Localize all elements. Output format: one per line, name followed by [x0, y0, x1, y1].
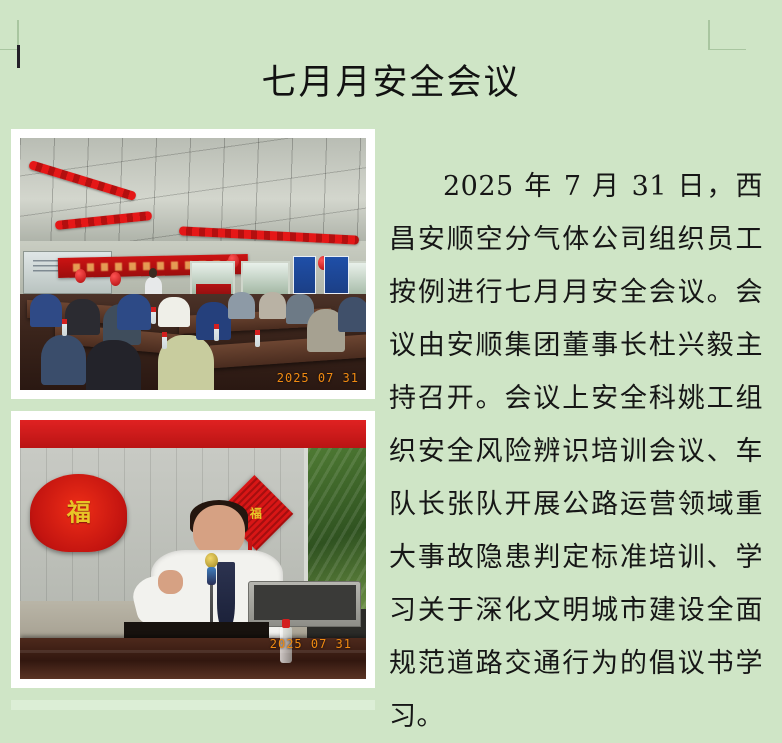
water-bottle: [151, 307, 156, 324]
speaker-necktie: [217, 562, 234, 629]
laptop-computer: [248, 581, 361, 627]
photo-timestamp: 2025 07 31: [270, 637, 352, 651]
wall-poster: [324, 256, 348, 293]
speaker-hand: [158, 570, 182, 593]
attendee: [228, 292, 256, 320]
speaker-podium-photo[interactable]: 2025 07 31: [20, 420, 366, 679]
attendee: [338, 297, 366, 332]
page-title: 七月月安全会议: [0, 61, 782, 105]
attendee: [86, 340, 141, 390]
attendee: [259, 292, 287, 320]
photo-frame-conference-room[interactable]: 2025 07 31: [11, 129, 375, 399]
wall-poster: [293, 256, 316, 293]
water-bottle: [62, 319, 67, 336]
margin-corner-top-left-icon: [0, 20, 32, 50]
attendee: [41, 335, 86, 385]
conference-room-photo[interactable]: 2025 07 31: [20, 138, 366, 390]
attendee: [158, 297, 189, 327]
water-bottle: [162, 332, 167, 349]
photo-column: 2025 07 31: [11, 129, 375, 710]
attendee: [30, 294, 61, 327]
photo-frame-speaker[interactable]: 2025 07 31: [11, 411, 375, 688]
water-bottle: [214, 324, 219, 341]
attendee: [65, 299, 100, 334]
red-wall-band: [20, 420, 366, 451]
document-page: 七月月安全会议: [0, 0, 782, 700]
body-paragraph: 2025 年 7 月 31 日，西昌安顺空分气体公司组织员工按例进行七月月安全会…: [389, 160, 763, 743]
water-bottle: [255, 330, 260, 347]
attendee: [117, 294, 152, 329]
lantern-icon: [110, 272, 121, 286]
photo-timestamp: 2025 07 31: [277, 371, 359, 385]
margin-corner-top-right-icon: [708, 20, 778, 50]
next-photo-placeholder: [11, 700, 375, 710]
fu-fan-decoration-icon: [30, 474, 127, 552]
